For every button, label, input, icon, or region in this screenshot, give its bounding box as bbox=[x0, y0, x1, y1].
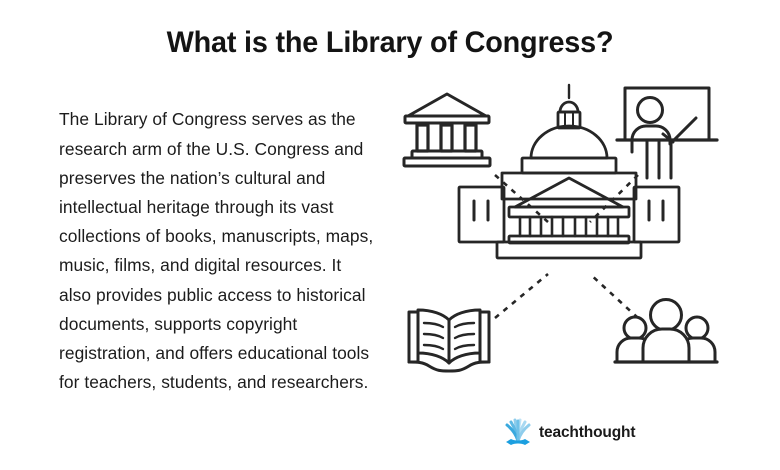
open-book-icon bbox=[409, 310, 489, 371]
connector-center-to-bottom-left bbox=[495, 274, 548, 318]
connector-lines bbox=[495, 175, 638, 318]
connector-center-to-bottom-right bbox=[590, 274, 638, 318]
teachthought-wordmark: teachthought bbox=[539, 425, 635, 441]
slide-canvas: What is the Library of Congress? The Lib… bbox=[0, 0, 780, 470]
page-title: What is the Library of Congress? bbox=[16, 24, 765, 62]
teacher-whiteboard-icon bbox=[617, 88, 717, 178]
people-group-icon bbox=[615, 300, 717, 363]
body-paragraph: The Library of Congress serves as the re… bbox=[59, 105, 374, 397]
classical-library-icon bbox=[404, 94, 490, 166]
teachthought-fan-book-icon bbox=[503, 417, 533, 449]
concept-diagram bbox=[385, 70, 745, 390]
teachthought-logo[interactable]: teachthought bbox=[503, 416, 635, 450]
